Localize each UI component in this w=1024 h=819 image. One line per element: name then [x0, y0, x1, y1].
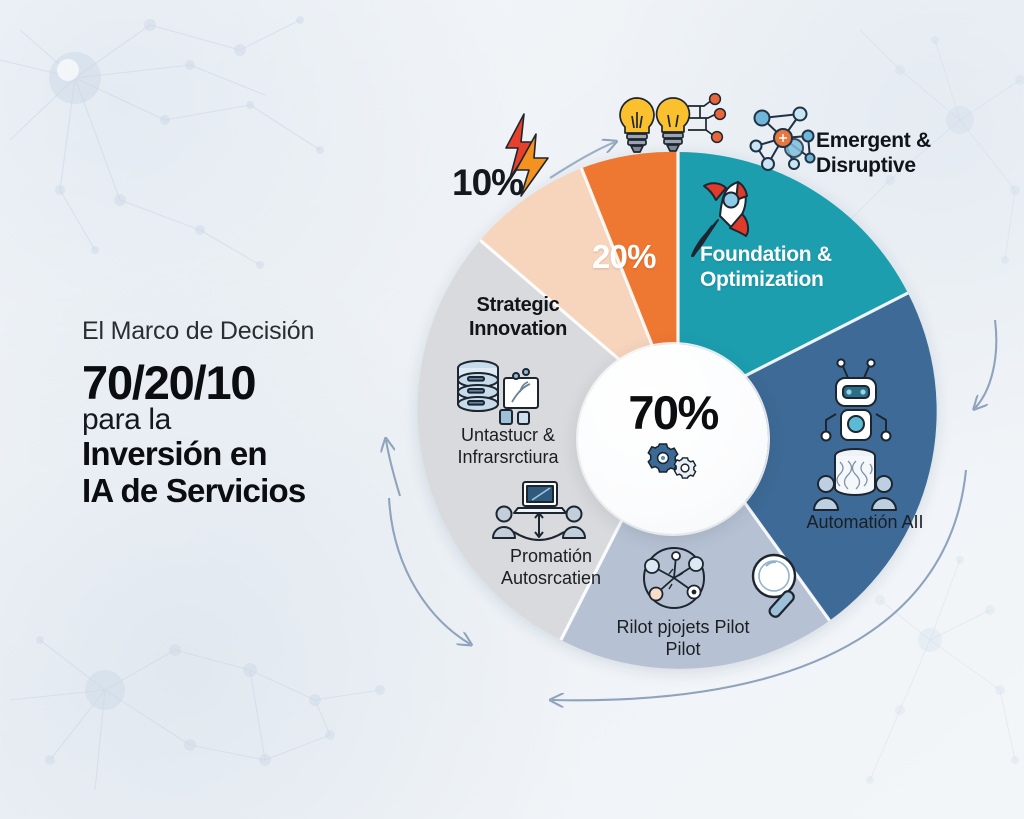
- infographic-canvas: El Marco de Decisión 70/20/10 para la In…: [0, 0, 1024, 819]
- center-hub: 70%: [578, 344, 768, 534]
- slice-label-emergent-disruptive: Emergent & Disruptive: [816, 128, 976, 178]
- title-main-line1: Inversión en: [82, 436, 412, 473]
- percent-label-20: 20%: [592, 238, 656, 276]
- title-main-line2: IA de Servicios: [82, 473, 412, 510]
- slice-label-strategic-innovation: Strategic Innovation: [438, 294, 598, 341]
- title-para: para la: [82, 405, 412, 436]
- gears-icon: [644, 441, 702, 483]
- percent-label-10: 10%: [452, 162, 523, 204]
- slice-label-pilot-projects: Rilot pjojets Pilot Pilot: [608, 617, 758, 661]
- slice-label-automation: Automatión AII: [796, 512, 934, 534]
- slice-label-foundation-optimization: Foundation & Optimization: [700, 242, 890, 292]
- center-percent: 70%: [628, 389, 717, 436]
- slice-label-infrastructure: Untastucr & Infrarsrctiura: [428, 425, 588, 469]
- slice-label-promotion: Promatión Autosrcatien: [476, 546, 626, 590]
- page-title: El Marco de Decisión 70/20/10 para la In…: [82, 318, 412, 510]
- arrow-right: [975, 320, 996, 408]
- title-ratio: 70/20/10: [82, 358, 412, 408]
- title-eyebrow: El Marco de Decisión: [82, 318, 412, 346]
